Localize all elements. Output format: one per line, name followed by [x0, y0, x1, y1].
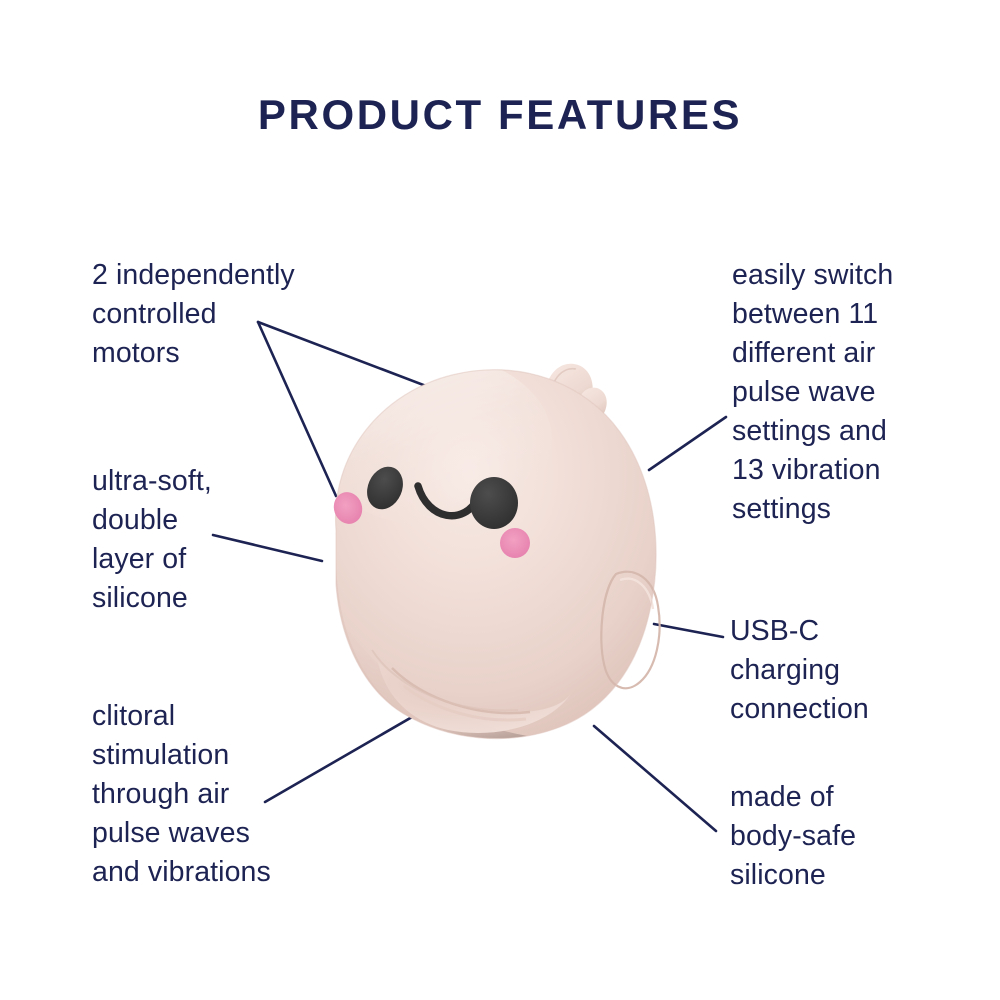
product-illustration [0, 0, 1000, 1000]
right-eye [470, 477, 518, 529]
product-body [312, 354, 690, 790]
right-blush [500, 528, 530, 558]
product-features-infographic: PRODUCT FEATURES [0, 0, 1000, 1000]
